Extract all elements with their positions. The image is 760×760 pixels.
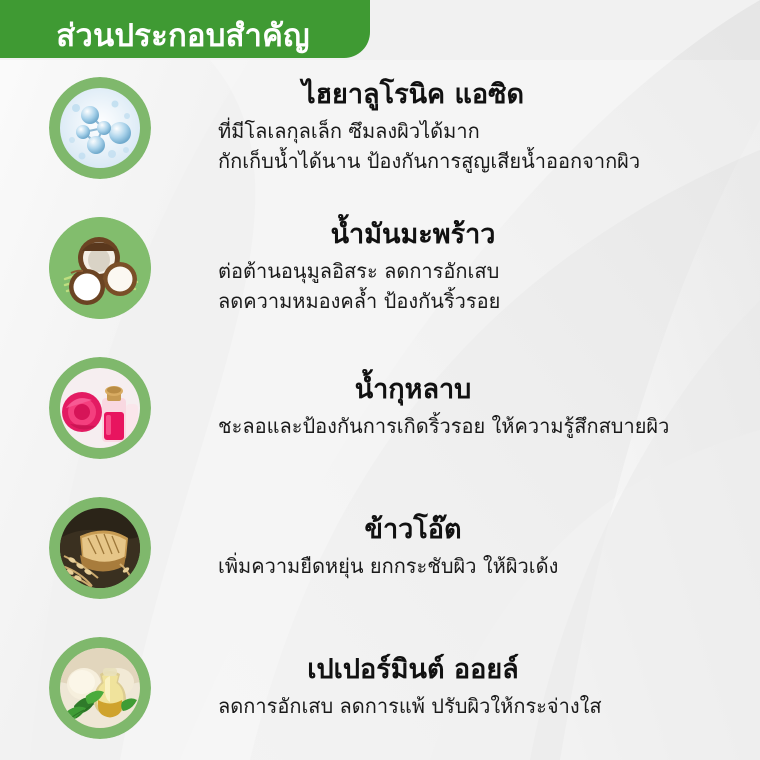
description-line: ชะลอและป้องกันการเกิดริ้วรอย ให้ความรู้ส… [218,411,746,441]
ingredient-title: น้ำมันมะพร้าว [200,219,746,252]
ingredient-title: น้ำกุหลาบ [200,374,746,407]
list-item: ไฮยาลูโรนิค แอซิด ที่มีโลเลกุลเล็ก ซึมลง… [0,58,760,198]
peppermint-oil-icon [49,637,151,739]
icon-cell [0,357,200,459]
description-line: ลดการอักเสบ ลดการแพ้ ปรับผิวให้กระจ่างใส [218,691,746,721]
ingredient-description: เพิ่มความยืดหยุ่น ยกกระชับผิว ให้ผิวเด้ง [200,551,746,581]
rose-water-icon [49,357,151,459]
ingredient-description: ลดการอักเสบ ลดการแพ้ ปรับผิวให้กระจ่างใส [200,691,746,721]
coconut-icon [49,217,151,319]
list-item: น้ำมันมะพร้าว ต่อต้านอนุมูลอิสระ ลดการอั… [0,198,760,338]
ingredient-list: ไฮยาลูโรนิค แอซิด ที่มีโลเลกุลเล็ก ซึมลง… [0,58,760,758]
header-banner: ส่วนประกอบสำคัญ [0,0,370,58]
ingredient-title: ข้าวโอ๊ต [200,514,746,547]
ingredient-title: เปเปอร์มินต์ ออยล์ [200,654,746,687]
description-line: ต่อต้านอนุมูลอิสระ ลดการอักเสบ [218,256,746,286]
ingredient-title: ไฮยาลูโรนิค แอซิด [200,79,746,112]
oats-icon [49,497,151,599]
page-title: ส่วนประกอบสำคัญ [30,21,309,52]
icon-photo [60,648,140,728]
icon-cell [0,497,200,599]
icon-cell [0,77,200,179]
description-line: ลดความหมองคล้ำ ป้องกันริ้วรอย [218,286,746,316]
list-item: ข้าวโอ๊ต เพิ่มความยืดหยุ่น ยกกระชับผิว ใ… [0,478,760,618]
icon-cell [0,637,200,739]
text-cell: น้ำกุหลาบ ชะลอและป้องกันการเกิดริ้วรอย ใ… [200,374,760,441]
icon-photo [60,368,140,448]
icon-photo [60,508,140,588]
text-cell: ไฮยาลูโรนิค แอซิด ที่มีโลเลกุลเล็ก ซึมลง… [200,79,760,177]
list-item: น้ำกุหลาบ ชะลอและป้องกันการเกิดริ้วรอย ใ… [0,338,760,478]
ingredient-description: ต่อต้านอนุมูลอิสระ ลดการอักเสบ ลดความหมอ… [200,256,746,317]
icon-photo [49,217,151,319]
list-item: เปเปอร์มินต์ ออยล์ ลดการอักเสบ ลดการแพ้ … [0,618,760,758]
ingredient-description: ที่มีโลเลกุลเล็ก ซึมลงผิวได้มาก กักเก็บน… [200,116,746,177]
infographic-poster: ส่วนประกอบสำคัญ [0,0,760,760]
icon-photo [60,88,140,168]
description-line: ที่มีโลเลกุลเล็ก ซึมลงผิวได้มาก [218,116,746,146]
icon-cell [0,217,200,319]
text-cell: เปเปอร์มินต์ ออยล์ ลดการอักเสบ ลดการแพ้ … [200,654,760,721]
text-cell: ข้าวโอ๊ต เพิ่มความยืดหยุ่น ยกกระชับผิว ใ… [200,514,760,581]
molecule-icon [49,77,151,179]
description-line: กักเก็บน้ำได้นาน ป้องกันการสูญเสียน้ำออก… [218,146,746,176]
ingredient-description: ชะลอและป้องกันการเกิดริ้วรอย ให้ความรู้ส… [200,411,746,441]
text-cell: น้ำมันมะพร้าว ต่อต้านอนุมูลอิสระ ลดการอั… [200,219,760,317]
description-line: เพิ่มความยืดหยุ่น ยกกระชับผิว ให้ผิวเด้ง [218,551,746,581]
